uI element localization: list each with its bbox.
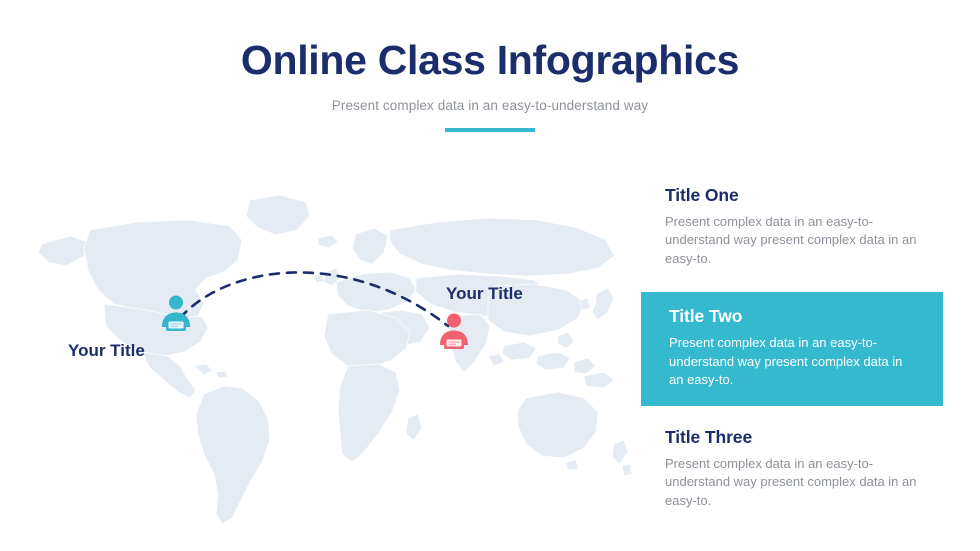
card-body: Present complex data in an easy-to-under… (669, 334, 919, 389)
card-title: Title Three (665, 427, 919, 448)
map-marker-destination-label: Your Title (446, 284, 523, 304)
card-gap (641, 406, 943, 418)
content-card-title-one[interactable]: Title One Present complex data in an eas… (641, 176, 943, 280)
page-title: Online Class Infographics (0, 38, 980, 84)
card-title: Title Two (669, 306, 919, 327)
world-map-panel: Your Title Your Title (18, 186, 638, 531)
map-marker-origin-icon[interactable] (158, 294, 194, 334)
content-card-title-two[interactable]: Title Two Present complex data in an eas… (641, 292, 943, 405)
content-card-list: Title One Present complex data in an eas… (641, 176, 943, 522)
slide-canvas: Online Class Infographics Present comple… (0, 0, 980, 551)
card-body: Present complex data in an easy-to-under… (665, 455, 919, 510)
content-card-title-three[interactable]: Title Three Present complex data in an e… (641, 418, 943, 522)
card-gap (641, 280, 943, 292)
card-body: Present complex data in an easy-to-under… (665, 213, 919, 268)
page-subtitle: Present complex data in an easy-to-under… (0, 98, 980, 113)
card-title: Title One (665, 185, 919, 206)
map-marker-origin-label: Your Title (68, 341, 145, 361)
slide-header: Online Class Infographics Present comple… (0, 38, 980, 132)
title-underline-accent (445, 128, 535, 132)
map-marker-destination-icon[interactable] (436, 312, 472, 352)
